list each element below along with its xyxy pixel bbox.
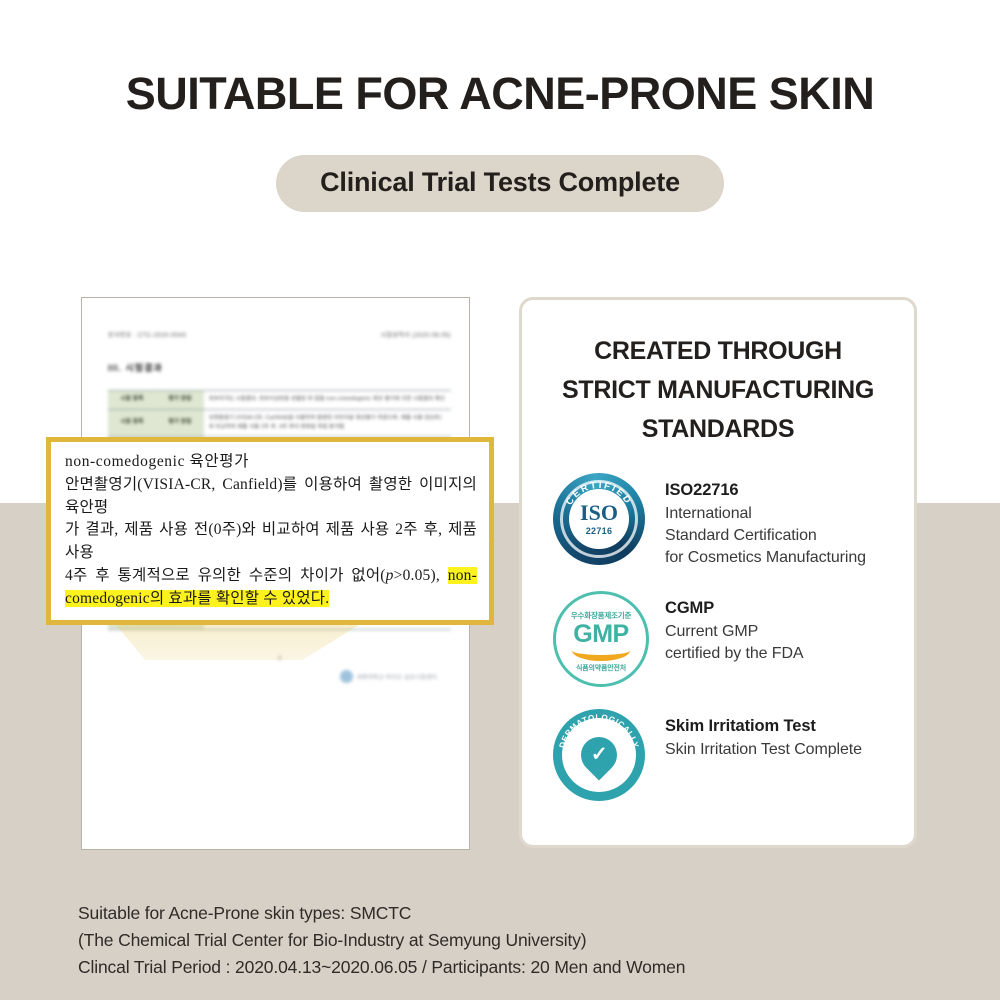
promo-page: SUITABLE FOR ACNE-PRONE SKIN Clinical Tr…: [0, 0, 1000, 1000]
document-section-title: III. 시험결과: [108, 361, 451, 374]
certification-name: Skim Irritatiom Test: [665, 717, 862, 736]
footer-line-2: (The Chemical Trial Center for Bio-Indus…: [78, 927, 928, 954]
certification-item-text: Skim Irritatiom Test Skin Irritation Tes…: [649, 709, 862, 761]
table-cell-label: 평가 방법: [156, 409, 204, 436]
table-cell-label: 시험 항목: [108, 391, 156, 410]
certification-item-iso22716: CERTIFIED ISO 22716 ISO22716 Internation…: [522, 473, 914, 569]
gmp-badge-swoosh-icon: [572, 640, 630, 661]
certification-desc-line: International: [665, 503, 866, 525]
check-icon: ✓: [590, 745, 607, 765]
callout-line-5: comedogenic의 효과를 확인할 수 있었다.: [65, 588, 477, 611]
document-header-left: 문서번호 : CTC-2020-0043: [108, 330, 186, 339]
certification-desc-line: Current GMP: [665, 621, 804, 643]
certification-desc-line: certified by the FDA: [665, 643, 804, 665]
certifications-title: CREATED THROUGH STRICT MANUFACTURING STA…: [542, 332, 894, 449]
iso-22716-badge-icon: CERTIFIED ISO 22716: [553, 473, 649, 569]
page-title: SUITABLE FOR ACNE-PRONE SKIN: [0, 68, 1000, 120]
callout-highlight-a: non-: [448, 567, 477, 584]
document-header-right: 시험성적서 (2020.06.05): [381, 330, 452, 339]
certifications-title-line-1: CREATED THROUGH: [542, 332, 894, 371]
table-row: 시험 항목 평가 방법 피부자극도 시험결과, 피부이상반응 관찰된 바 없음 …: [108, 391, 451, 410]
footer-line-3: Clincal Trial Period : 2020.04.13~2020.0…: [78, 954, 928, 981]
callout-line-4-a: 4주 후 통계적으로 유의한 수준의 차이가 없어(: [65, 567, 386, 584]
cgmp-badge-icon: 우수화장품제조기준 GMP 식품의약품안전처: [553, 591, 649, 687]
document-stamp: 세명대학교 바이오 임상시험센터: [108, 670, 451, 683]
pill-badge-wrapper: Clinical Trial Tests Complete: [0, 155, 1000, 212]
certification-name: ISO22716: [665, 481, 866, 500]
certifications-title-line-2: STRICT MANUFACTURING: [542, 371, 894, 410]
callout-highlight-b: comedogenic의 효과를 확인할 수 있었다.: [65, 590, 329, 607]
callout-line-4-b: >0.05),: [394, 567, 448, 584]
table-cell-label: 시험 항목: [108, 409, 156, 436]
stamp-label: 세명대학교 바이오 임상시험센터: [357, 673, 437, 681]
certification-item-skin-irritation: DERMATOLOGICALLY TESTED ✓ Skim Irritatio…: [522, 709, 914, 805]
certification-item-text: ISO22716 International Standard Certific…: [649, 473, 866, 569]
footer-caption: Suitable for Acne-Prone skin types: SMCT…: [78, 900, 928, 980]
table-cell-value: 피부자극도 시험결과, 피부이상반응 관찰된 바 없음 non-comedoge…: [204, 391, 451, 410]
document-page-number: 3: [108, 656, 451, 662]
certification-desc-line: Standard Certification: [665, 525, 866, 547]
document-header: 문서번호 : CTC-2020-0043 시험성적서 (2020.06.05): [108, 330, 451, 339]
certification-name: CGMP: [665, 599, 804, 618]
certification-item-text: CGMP Current GMP certified by the FDA: [649, 591, 804, 665]
iso-badge-ring: CERTIFIED ISO 22716: [553, 473, 645, 565]
gmp-badge-bottom-text: 식품의약품안전처: [576, 663, 626, 673]
gmp-badge-top-text: 우수화장품제조기준: [571, 610, 631, 621]
iso-certified-arc-text: CERTIFIED: [553, 473, 645, 565]
gmp-badge-circle: 우수화장품제조기준 GMP 식품의약품안전처: [553, 591, 649, 687]
table-cell-label: 평가 방법: [156, 391, 204, 410]
dermatologically-tested-badge-icon: DERMATOLOGICALLY TESTED ✓: [553, 709, 649, 805]
callout-line-2: 안면촬영기(VISIA-CR, Canfield)를 이용하여 촬영한 이미지의…: [65, 474, 477, 520]
certifications-list: CERTIFIED ISO 22716 ISO22716 Internation…: [522, 473, 914, 805]
highlighted-callout-box: non-comedogenic 육안평가 안면촬영기(VISIA-CR, Can…: [46, 437, 494, 625]
certifications-card: CREATED THROUGH STRICT MANUFACTURING STA…: [519, 297, 917, 848]
table-row: 시험 항목 평가 방법 안면촬영기 (VISIA-CR, Canfield)를 …: [108, 409, 451, 436]
callout-p-value-italic: p: [386, 567, 394, 584]
derm-badge-circle: DERMATOLOGICALLY TESTED ✓: [553, 709, 645, 801]
table-cell-value: 안면촬영기 (VISIA-CR, Canfield)를 이용하여 촬영한 이미지…: [204, 409, 451, 436]
callout-line-3: 가 결과, 제품 사용 전(0주)와 비교하여 제품 사용 2주 후, 제품 사…: [65, 519, 477, 565]
certification-desc-line: for Cosmetics Manufacturing: [665, 547, 866, 569]
certification-desc-line: Skin Irritation Test Complete: [665, 739, 862, 761]
certifications-title-line-3: STANDARDS: [542, 410, 894, 449]
svg-text:CERTIFIED: CERTIFIED: [564, 480, 634, 507]
stamp-seal-icon: [340, 670, 353, 683]
footer-line-1: Suitable for Acne-Prone skin types: SMCT…: [78, 900, 928, 927]
callout-line-1: non-comedogenic 육안평가: [65, 451, 477, 474]
certification-item-cgmp: 우수화장품제조기준 GMP 식품의약품안전처 CGMP Current GMP …: [522, 591, 914, 687]
callout-line-4: 4주 후 통계적으로 유의한 수준의 차이가 없어(p>0.05), non-: [65, 565, 477, 588]
status-badge: Clinical Trial Tests Complete: [276, 155, 724, 212]
